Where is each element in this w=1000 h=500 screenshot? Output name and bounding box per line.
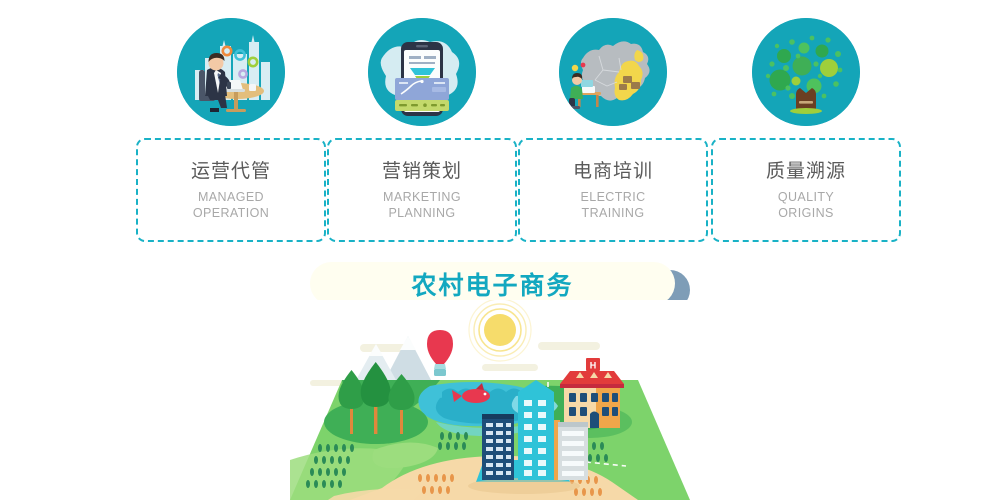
feature-card-marketing-planning[interactable]: 营销策划 MARKETING PLANNING: [327, 138, 517, 242]
infographic-root: 运营代管 MANAGED OPERATION: [0, 0, 1000, 500]
rural-landscape-illustration: H: [290, 300, 690, 500]
feature-card-managed-operation[interactable]: 运营代管 MANAGED OPERATION: [136, 138, 326, 242]
feature-title-cn: 电商培训: [573, 159, 653, 185]
feature-title-en-line2: ORIGINS: [778, 206, 834, 222]
feature-title-en: MARKETING PLANNING: [383, 190, 461, 221]
feature-title-en: MANAGED OPERATION: [193, 190, 269, 221]
feature-title-cn: 运营代管: [191, 159, 271, 185]
page-title: 农村电子商务: [411, 266, 573, 302]
feature-title-en-line1: ELECTRIC: [580, 190, 645, 206]
feature-title-en-line1: QUALITY: [778, 190, 834, 206]
businessman-laptop-city-icon: [177, 18, 285, 126]
china-map-training-desk-icon: [559, 18, 667, 126]
feature-column-electric-training[interactable]: 电商培训 ELECTRIC TRAINING: [518, 0, 708, 245]
feature-title-en-line1: MARKETING: [383, 190, 461, 206]
feature-title-en-line1: MANAGED: [193, 190, 269, 206]
feature-column-managed-operation[interactable]: 运营代管 MANAGED OPERATION: [136, 0, 326, 245]
svg-text:H: H: [590, 361, 597, 371]
feature-column-marketing-planning[interactable]: 营销策划 MARKETING PLANNING: [327, 0, 517, 245]
feature-title-en-line2: OPERATION: [193, 206, 269, 222]
feature-title-en-line2: TRAINING: [580, 206, 645, 222]
feature-title-cn: 质量溯源: [766, 159, 846, 185]
feature-columns: 运营代管 MANAGED OPERATION: [0, 0, 1000, 245]
banner-pill: 农村电子商务: [310, 262, 675, 305]
feature-column-quality-origins[interactable]: 质量溯源 QUALITY ORIGINS: [711, 0, 901, 245]
bubble-tree-traceability-icon: [752, 18, 860, 126]
feature-title-cn: 营销策划: [382, 159, 462, 185]
feature-title-en-line2: PLANNING: [383, 206, 461, 222]
smartphone-marketing-funnel-icon: [368, 18, 476, 126]
feature-title-en: QUALITY ORIGINS: [778, 190, 834, 221]
feature-title-en: ELECTRIC TRAINING: [580, 190, 645, 221]
feature-card-quality-origins[interactable]: 质量溯源 QUALITY ORIGINS: [711, 138, 901, 242]
feature-card-electric-training[interactable]: 电商培训 ELECTRIC TRAINING: [518, 138, 708, 242]
